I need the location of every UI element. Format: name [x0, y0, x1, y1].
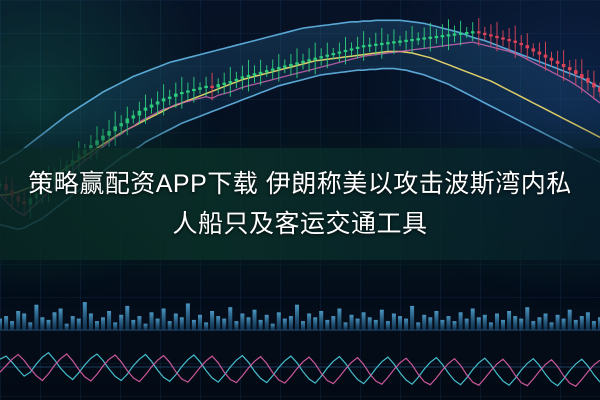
candle-body — [168, 97, 172, 99]
candle-body — [526, 45, 530, 48]
volume-bar — [0, 319, 2, 330]
candle-body — [119, 123, 123, 126]
volume-bar — [531, 321, 535, 330]
volume-bar — [368, 317, 372, 330]
candle-body — [404, 40, 408, 42]
volume-bar — [198, 315, 202, 330]
candle-body — [519, 43, 523, 45]
volume-bar — [53, 312, 57, 330]
volume-bar — [422, 315, 426, 330]
volume-bar — [113, 322, 117, 330]
volume-bar — [556, 315, 560, 330]
volume-bar — [386, 321, 390, 330]
candle-body — [441, 35, 445, 37]
candle-body — [216, 84, 220, 87]
volume-bar — [404, 319, 408, 330]
candle-body — [277, 67, 281, 69]
volume-bar — [434, 311, 438, 330]
volume-bar — [562, 319, 566, 330]
candle-body — [144, 108, 148, 111]
volume-bar — [410, 306, 414, 330]
indicator-panel — [0, 353, 600, 387]
candle-body — [150, 105, 154, 108]
volume-bar — [28, 322, 32, 330]
candle-body — [350, 48, 354, 50]
volume-bar — [580, 316, 584, 330]
candle-body — [313, 58, 317, 60]
candle-body — [477, 31, 481, 33]
volume-bar — [301, 321, 305, 330]
candle-body — [101, 136, 105, 141]
volume-bar — [313, 317, 317, 330]
candle-body — [180, 92, 184, 94]
volume-bar — [228, 307, 232, 330]
volume-bars — [0, 302, 600, 330]
volume-bar — [350, 315, 354, 330]
candle-body — [556, 61, 560, 64]
candle-body — [222, 83, 226, 85]
volume-bar — [16, 311, 20, 330]
candle-body — [544, 55, 548, 58]
candle-body — [319, 56, 323, 58]
volume-bar — [95, 321, 99, 330]
candle-body — [138, 111, 142, 116]
volume-bar — [459, 312, 463, 330]
volume-bar — [519, 319, 523, 330]
headline-line-1: 策略赢配资APP下载 伊朗称美以攻击波斯湾内私 — [28, 167, 571, 201]
volume-bar — [295, 305, 299, 330]
volume-bar — [331, 316, 335, 330]
volume-bar — [259, 320, 263, 330]
volume-bar — [380, 310, 384, 330]
candle-body — [447, 34, 451, 36]
volume-bar — [537, 317, 541, 330]
volume-bar — [71, 316, 75, 330]
volume-bar — [513, 316, 517, 330]
candle-body — [429, 37, 433, 39]
volume-bar — [489, 322, 493, 330]
candle-body — [162, 98, 166, 101]
volume-bar — [180, 317, 184, 330]
candle-body — [344, 50, 348, 52]
candle-body — [398, 41, 402, 43]
candle-body — [501, 37, 505, 39]
volume-bar — [253, 310, 257, 330]
candle-body — [229, 81, 233, 83]
volume-bar — [416, 322, 420, 330]
volume-bar — [465, 319, 469, 330]
volume-bar — [59, 309, 63, 331]
volume-bar — [125, 306, 129, 330]
volume-bar — [210, 311, 214, 330]
volume-bar — [362, 312, 366, 330]
volume-bar — [392, 314, 396, 331]
volume-bar — [325, 320, 329, 330]
candle-body — [192, 89, 196, 91]
volume-bar — [586, 312, 590, 330]
volume-bar — [319, 311, 323, 330]
volume-bar — [119, 315, 123, 330]
candle-body — [326, 55, 330, 57]
volume-bar — [4, 316, 8, 330]
volume-bar — [471, 309, 475, 331]
candle-body — [422, 37, 426, 39]
volume-bar — [544, 314, 548, 331]
volume-bar — [574, 320, 578, 330]
candle-body — [356, 47, 360, 49]
volume-bar — [453, 321, 457, 330]
volume-bar — [440, 320, 444, 330]
candle-body — [513, 41, 517, 43]
candle-body — [174, 94, 178, 97]
candle-body — [410, 39, 414, 41]
candle-body — [132, 115, 136, 118]
candle-body — [338, 52, 342, 54]
volume-bar — [34, 305, 38, 330]
candle-body — [471, 31, 475, 33]
volume-bar — [204, 322, 208, 330]
headline-line-2: 人船只及客运交通工具 — [172, 207, 427, 241]
volume-bar — [40, 317, 44, 330]
volume-bar — [501, 320, 505, 330]
volume-bar — [89, 314, 93, 331]
volume-bar — [10, 321, 14, 330]
volume-bar — [150, 312, 154, 330]
volume-bar — [374, 320, 378, 330]
candle-body — [532, 48, 536, 51]
volume-bar — [356, 319, 360, 330]
candle-body — [113, 126, 117, 131]
candle-body — [259, 72, 263, 74]
volume-bar — [247, 317, 251, 330]
volume-bar — [477, 317, 481, 330]
candle-body — [586, 78, 590, 83]
volume-bar — [192, 320, 196, 330]
volume-bar — [483, 315, 487, 330]
candle-body — [489, 34, 493, 36]
volume-bar — [222, 319, 226, 330]
stock-chart-banner-image: 策略赢配资APP下载 伊朗称美以攻击波斯湾内私 人船只及客运交通工具 — [0, 0, 600, 400]
candle-body — [332, 53, 336, 55]
candle-body — [186, 91, 190, 93]
candle-body — [271, 69, 275, 71]
volume-bar — [83, 302, 87, 330]
candle-body — [568, 67, 572, 70]
candle-body — [495, 36, 499, 38]
candle-body — [210, 86, 214, 88]
volume-bar — [162, 309, 166, 331]
candle-body — [453, 34, 457, 36]
candle-body — [95, 140, 99, 145]
candle-body — [289, 64, 293, 66]
candle-body — [283, 66, 287, 68]
candle-body — [126, 119, 130, 124]
candle-body — [592, 83, 596, 88]
candle-body — [247, 75, 251, 77]
volume-bar — [495, 314, 499, 331]
candle-body — [483, 33, 487, 35]
volume-bar — [289, 316, 293, 330]
candle-body — [459, 33, 463, 35]
candle-body — [368, 45, 372, 47]
volume-bar — [337, 309, 341, 331]
volume-bar — [525, 307, 529, 330]
candle-body — [538, 52, 542, 55]
volume-bar — [240, 314, 244, 331]
candle-body — [198, 87, 202, 89]
candle-body — [380, 43, 384, 45]
volume-bar — [22, 314, 26, 331]
candle-body — [416, 38, 420, 40]
candle-body — [241, 76, 245, 78]
candle-body — [550, 58, 554, 61]
candle-body — [362, 45, 366, 47]
volume-bar — [428, 317, 432, 330]
volume-bar — [131, 320, 135, 330]
candle-body — [265, 70, 269, 72]
candle-body — [301, 61, 305, 63]
volume-bar — [101, 317, 105, 330]
candle-body — [580, 74, 584, 78]
volume-bar — [307, 314, 311, 331]
volume-bar — [398, 316, 402, 330]
candle-body — [562, 64, 566, 67]
volume-panel — [0, 302, 600, 330]
volume-bar — [216, 316, 220, 330]
candle-body — [307, 59, 311, 61]
candle-body — [374, 44, 378, 46]
volume-bar — [271, 324, 275, 330]
volume-bar — [174, 314, 178, 331]
volume-bar — [186, 303, 190, 330]
candle-body — [107, 131, 111, 136]
volume-bar — [447, 316, 451, 330]
candle-body — [574, 70, 578, 74]
volume-bar — [234, 321, 238, 330]
volume-bar — [344, 322, 348, 330]
candle-body — [156, 101, 160, 104]
volume-bar — [265, 315, 269, 330]
volume-bar — [144, 324, 148, 330]
volume-bar — [156, 319, 160, 330]
volume-bar — [107, 311, 111, 330]
candle-body — [253, 73, 257, 75]
candle-body — [435, 36, 439, 38]
volume-bar — [507, 311, 511, 330]
volume-bar — [592, 321, 596, 330]
volume-bar — [550, 322, 554, 330]
volume-bar — [277, 312, 281, 330]
volume-bar — [47, 320, 51, 330]
candle-body — [392, 41, 396, 43]
candle-body — [386, 42, 390, 44]
candle-body — [507, 39, 511, 41]
candle-body — [295, 62, 299, 64]
volume-bar — [137, 316, 141, 330]
volume-bar — [283, 319, 287, 330]
volume-bar — [77, 319, 81, 330]
volume-bar — [568, 310, 572, 330]
headline-overlay: 策略赢配资APP下载 伊朗称美以攻击波斯湾内私 人船只及客运交通工具 — [0, 148, 600, 260]
candle-body — [465, 32, 469, 34]
candle-body — [235, 79, 239, 81]
candle-body — [204, 86, 208, 88]
volume-bar — [168, 321, 172, 330]
volume-bar — [65, 324, 69, 330]
